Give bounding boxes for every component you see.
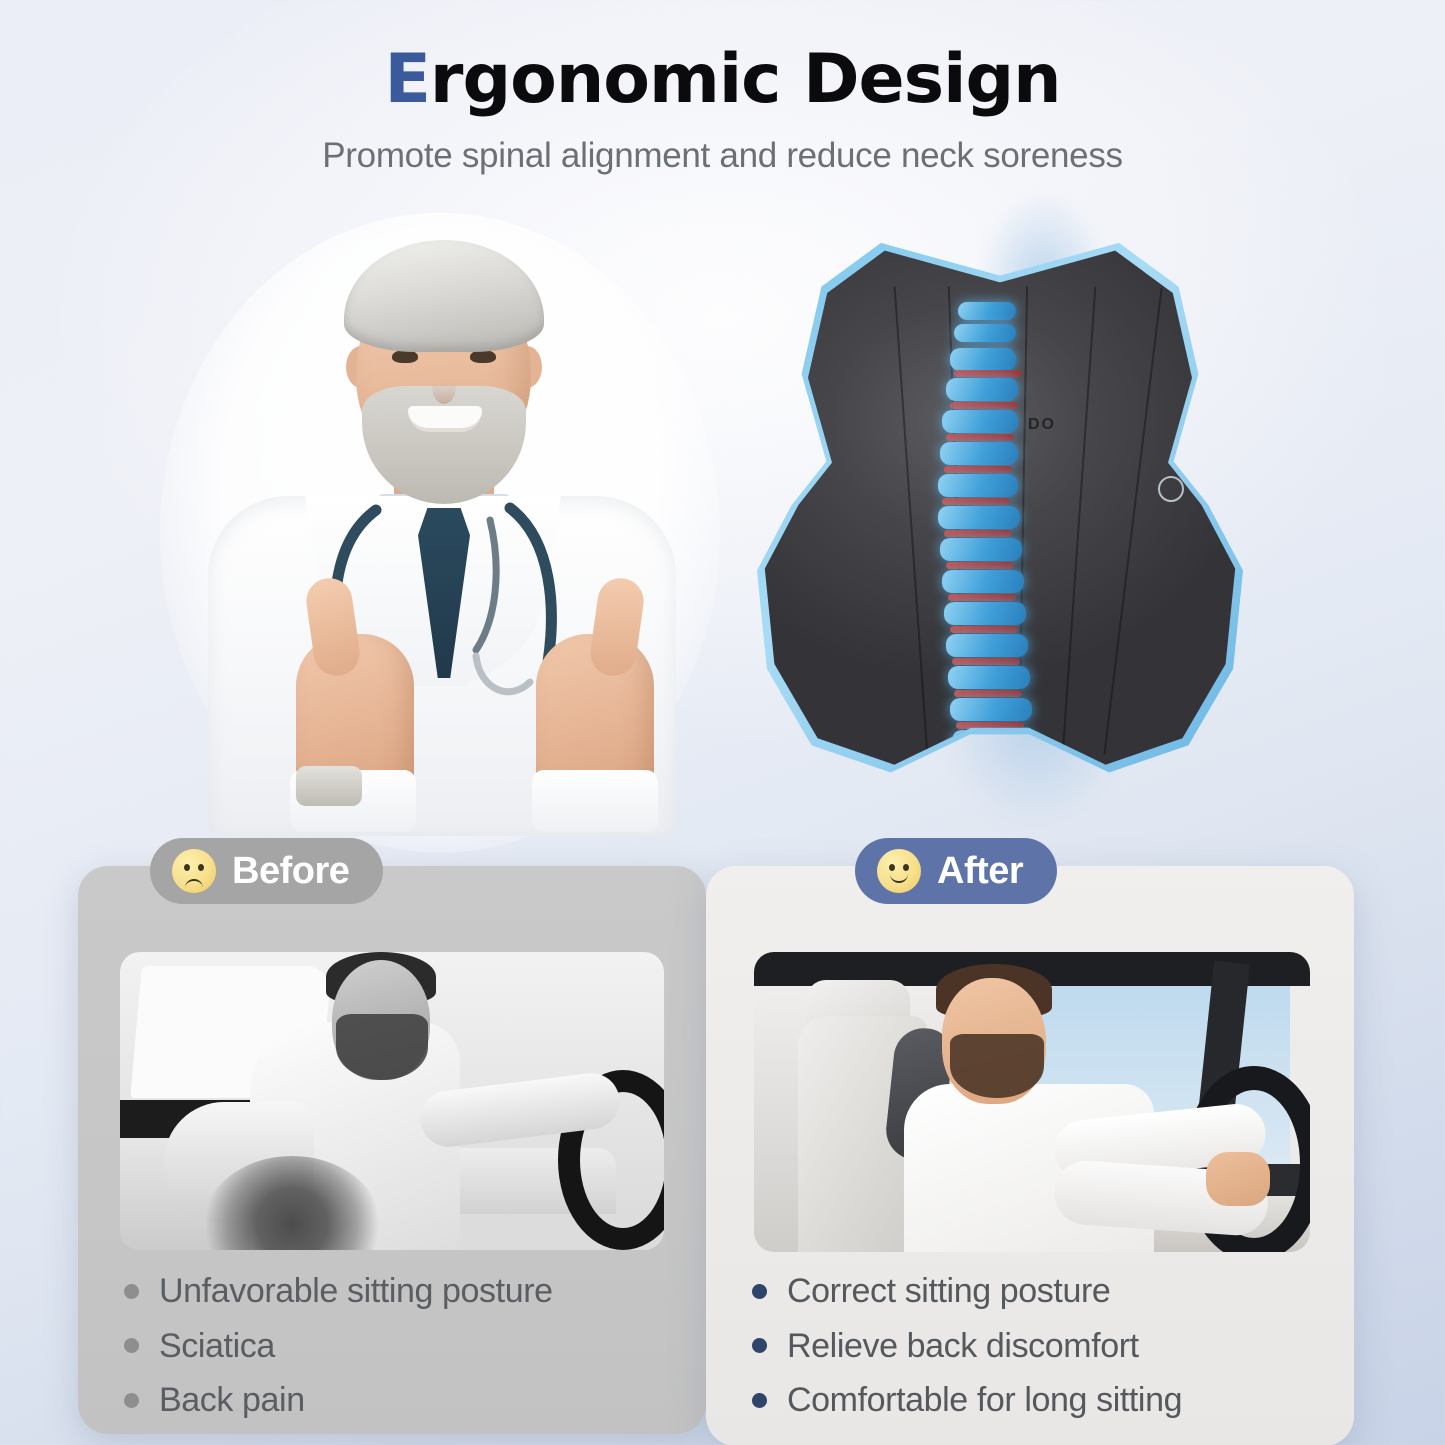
list-item: Relieve back discomfort bbox=[752, 1325, 1332, 1368]
after-photo bbox=[754, 952, 1310, 1252]
product-image: DO bbox=[730, 200, 1270, 820]
list-item: Comfortable for long sitting bbox=[752, 1379, 1332, 1422]
page-subtitle: Promote spinal alignment and reduce neck… bbox=[0, 136, 1445, 176]
pillow-seam bbox=[1062, 287, 1097, 756]
after-card: Correct sitting posture Relieve back dis… bbox=[706, 866, 1354, 1445]
bullet-dot-icon bbox=[124, 1284, 139, 1299]
before-bullet-list: Unfavorable sitting posture Sciatica Bac… bbox=[124, 1270, 684, 1434]
before-photo bbox=[120, 952, 664, 1250]
pillow-seam bbox=[1103, 288, 1162, 755]
after-bullet-list: Correct sitting posture Relieve back dis… bbox=[752, 1270, 1332, 1434]
sad-face-icon bbox=[172, 849, 216, 893]
list-item-label: Unfavorable sitting posture bbox=[159, 1270, 553, 1313]
before-badge: Before bbox=[150, 838, 383, 904]
title-rest: rgonomic Design bbox=[430, 40, 1061, 119]
lumbar-pillow: DO bbox=[760, 240, 1240, 770]
bullet-dot-icon bbox=[752, 1393, 767, 1408]
after-badge: After bbox=[855, 838, 1057, 904]
list-item: Sciatica bbox=[124, 1325, 684, 1368]
list-item-label: Correct sitting posture bbox=[787, 1270, 1110, 1313]
bullet-dot-icon bbox=[124, 1338, 139, 1353]
doctor-cuff-right bbox=[532, 770, 658, 832]
list-item: Unfavorable sitting posture bbox=[124, 1270, 684, 1313]
bullet-dot-icon bbox=[752, 1338, 767, 1353]
spine-xray-overlay bbox=[928, 300, 1058, 770]
product-brandmark: DO bbox=[1028, 416, 1056, 434]
before-badge-label: Before bbox=[232, 852, 349, 890]
page-title: Ergonomic Design bbox=[0, 46, 1445, 114]
before-card: Unfavorable sitting posture Sciatica Bac… bbox=[78, 866, 706, 1434]
after-badge-label: After bbox=[937, 852, 1023, 890]
list-item: Correct sitting posture bbox=[752, 1270, 1332, 1313]
list-item: Back pain bbox=[124, 1379, 684, 1422]
comparison-section: Unfavorable sitting posture Sciatica Bac… bbox=[0, 838, 1445, 1445]
list-item-label: Sciatica bbox=[159, 1325, 275, 1368]
title-accent-letter: E bbox=[384, 40, 429, 119]
page-header: Ergonomic Design Promote spinal alignmen… bbox=[0, 0, 1445, 176]
smiley-face-icon bbox=[877, 849, 921, 893]
doctor-image bbox=[180, 210, 700, 830]
list-item-label: Back pain bbox=[159, 1379, 305, 1422]
bullet-dot-icon bbox=[752, 1284, 767, 1299]
hero-section: DO bbox=[0, 190, 1445, 850]
doctor-nose bbox=[432, 368, 456, 404]
list-item-label: Relieve back discomfort bbox=[787, 1325, 1139, 1368]
doctor-wristwatch bbox=[296, 766, 362, 806]
product-logo-icon bbox=[1158, 476, 1184, 502]
pillow-seam bbox=[894, 287, 929, 756]
doctor-smile bbox=[408, 406, 482, 432]
list-item-label: Comfortable for long sitting bbox=[787, 1379, 1182, 1422]
bullet-dot-icon bbox=[124, 1393, 139, 1408]
